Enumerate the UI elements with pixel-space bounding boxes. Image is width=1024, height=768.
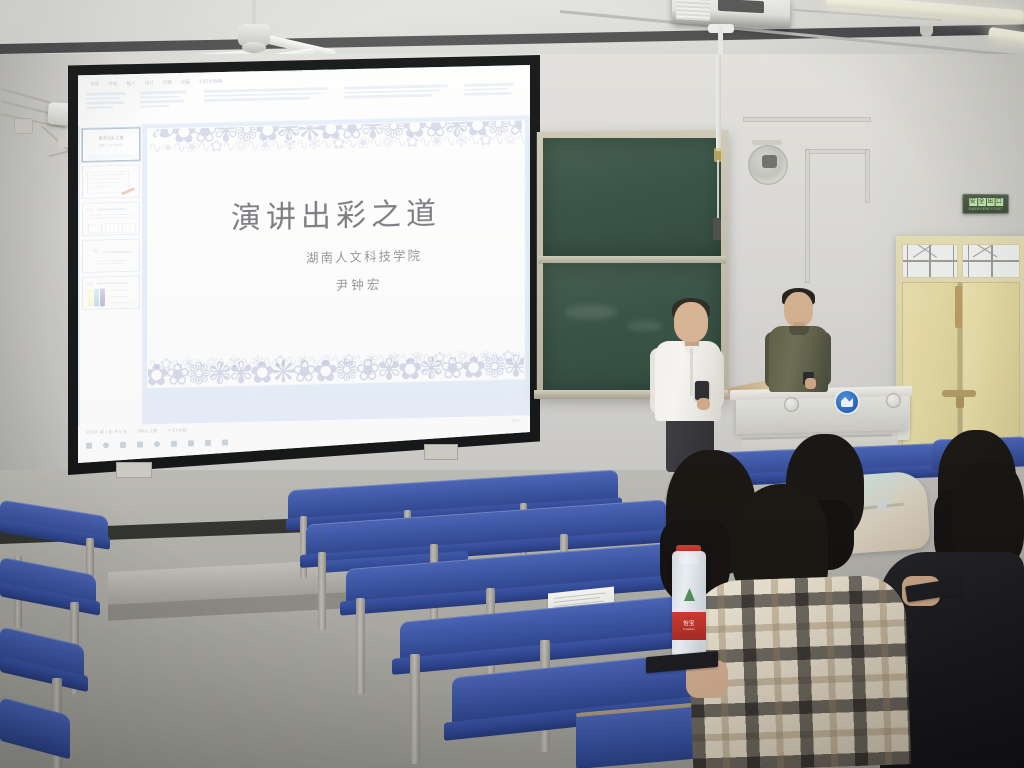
exit-char: 全 [978,197,986,205]
menu-item-design[interactable]: 设计 [145,80,154,86]
wall-junction-box [14,118,33,134]
collar [789,326,809,335]
head [674,302,708,342]
lecture-hall-photo: 演讲出彩之道 - PowerPoint 文件 开始 插入 设计 切换 动画 幻灯… [0,0,1024,768]
settings-icon[interactable] [222,439,228,445]
ribbon-group-clipboard[interactable] [86,92,132,109]
mail-icon[interactable] [171,441,177,447]
bottle-brand-en: C'estbon [683,627,695,631]
cord-handle[interactable] [713,218,721,240]
slide-organization: 湖南人文科技学院 [148,242,524,270]
thumb-number: 03 [87,282,93,288]
hand [697,398,710,410]
thumb-number: 01 [87,208,93,214]
projector-vent [676,0,710,21]
ceiling-sensor-icon [920,26,933,37]
slide-thumbnail-1[interactable]: 演讲出彩之道 湖南人文科技学院 [82,128,140,162]
screen-bracket [424,444,458,460]
ceiling-fan-rod [252,0,256,26]
ribbon-group-paragraph[interactable] [344,84,454,98]
projection-screen-surface: 演讲出彩之道 - PowerPoint 文件 开始 插入 设计 切换 动画 幻灯… [78,65,530,463]
powerpoint-workspace: 演讲出彩之道 湖南人文科技学院 01 [78,115,530,426]
browser-icon[interactable] [154,441,160,447]
slide-presenter: 尹钟宏 [148,270,524,298]
exit-char: 口 [995,198,1003,206]
slide-canvas[interactable]: ❧✿❀✾❁✿❃❋✿❀✾❁✿❀❃✿❁❀✾✿❋❀✿❁✾❀✿❃❀✿ ∿❧∿❀∿✿∿❁∿… [148,120,524,387]
door-leaf-left[interactable] [902,282,958,462]
media-icon[interactable] [205,440,211,446]
chalkboard-upper-panel [543,138,721,257]
exit-char: 安 [969,197,977,205]
torso [769,326,828,392]
search-icon[interactable] [103,442,109,448]
screen-bracket [116,462,152,478]
language-label: 中文(中国) [167,427,187,433]
lectern-body [736,394,908,434]
menu-item-transitions[interactable]: 切换 [163,80,172,86]
exit-sign-label: EMERGENCY EXIT [969,206,1003,210]
menu-item-animations[interactable]: 动画 [181,79,190,85]
water-bottle [672,551,706,659]
slide-thumbnail-3[interactable]: 01 [82,202,140,236]
thumb-title: 演讲出彩之道 [98,135,123,142]
ribbon-group-font[interactable] [204,87,334,102]
powerpoint-icon[interactable] [188,440,194,446]
slide-thumbnail-2[interactable] [82,165,140,199]
shirt-placket [690,348,693,396]
lectern-emblem-icon [886,393,901,408]
menu-item-home[interactable]: 开始 [108,81,117,87]
wall-conduit [744,118,870,121]
slide-thumbnail-5[interactable]: 03 [82,276,140,310]
menu-item-slideshow[interactable]: 幻灯片放映 [199,79,222,86]
slide-indicator: 幻灯片 第 1 张,共 5 张 [86,428,127,435]
slide-thumbnail-4[interactable]: 02 [82,239,140,273]
zoom-control[interactable]: 66% [512,418,520,423]
slide-title: 演讲出彩之道 [148,186,524,239]
thumb-number: 02 [93,249,99,255]
wall-conduit [866,150,869,202]
folder-icon[interactable] [137,441,143,447]
start-icon[interactable] [86,443,92,449]
lectern-emblem-icon [784,397,799,412]
door-transom-window [962,244,1020,278]
lectern-badge-icon [836,391,858,413]
slide-thumbnail-panel[interactable]: 演讲出彩之道 湖南人文科技学院 01 [80,124,142,425]
cord-line [717,160,719,220]
zoom-level: 66% [512,418,520,423]
task-view-icon[interactable] [120,442,126,448]
door-transom-window [902,244,958,278]
theme-label: Office 主题 [137,428,157,434]
wall-conduit [806,150,868,153]
ribbon-group-slides[interactable] [140,90,192,108]
ceiling-fan-hub [242,42,266,53]
menu-item-insert[interactable]: 插入 [126,81,135,87]
bottle-label: 怡宝 C'estbon [672,612,706,640]
screen-pull-cord[interactable] [716,55,721,151]
exit-sign-characters: 安 全 出 口 [969,197,1003,205]
door-lock-icon[interactable] [956,396,964,408]
hand [805,378,816,389]
wall-fan-motor [762,155,777,168]
exit-char: 出 [986,198,994,206]
bottle-brand-cn: 怡宝 [683,621,695,628]
door-bolt-icon[interactable] [955,286,962,328]
menu-item-file[interactable]: 文件 [90,82,99,88]
wall-conduit [806,150,809,282]
exit-sign: 安 全 出 口 EMERGENCY EXIT [962,194,1009,214]
powerpoint-window[interactable]: 演讲出彩之道 - PowerPoint 文件 开始 插入 设计 切换 动画 幻灯… [78,65,530,463]
thumb-subtitle: 湖南人文科技学院 [99,143,123,148]
ribbon-group-editing[interactable] [464,83,522,96]
